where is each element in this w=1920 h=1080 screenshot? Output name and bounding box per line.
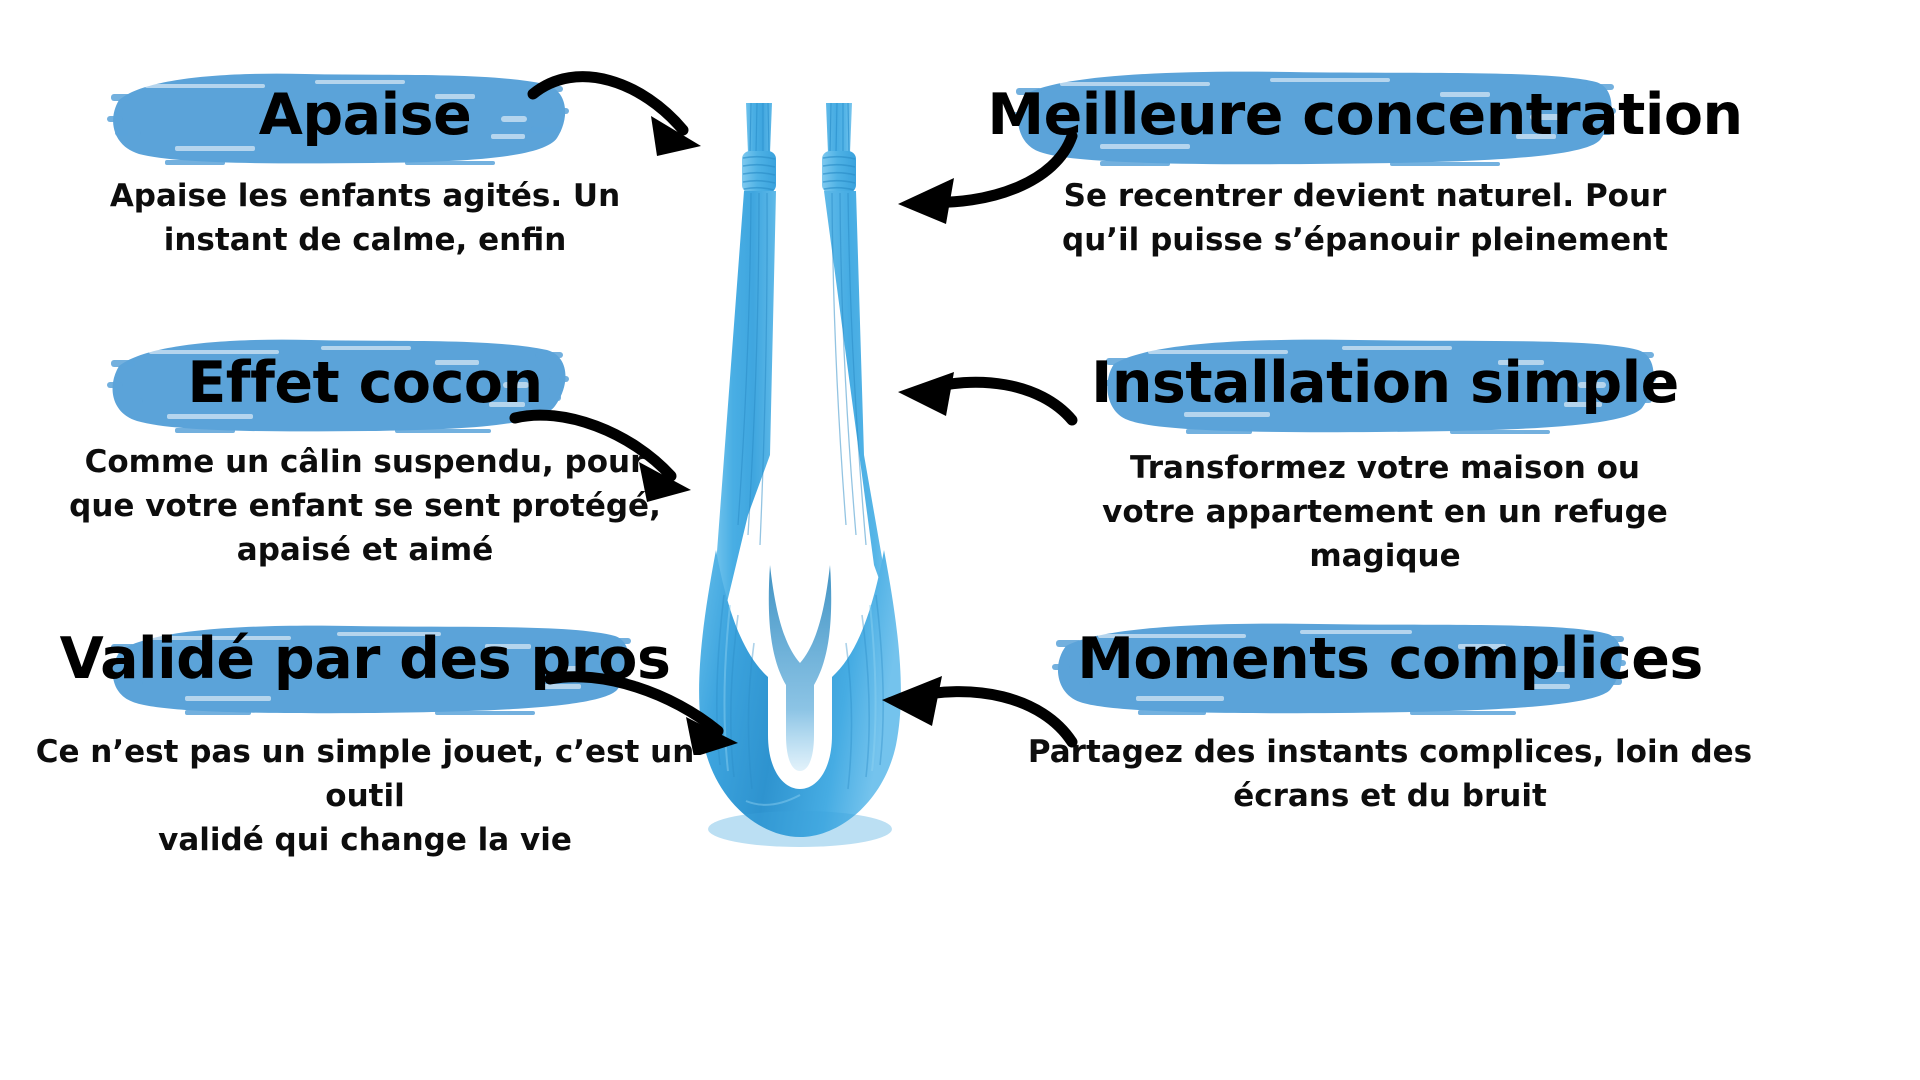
feature-valide-par-des-pros-line-2: validé qui change la vie xyxy=(15,818,715,862)
arrow-curve-right-apaise xyxy=(525,60,735,170)
arrow-curve-left-installation xyxy=(880,360,1080,440)
infographic-canvas: Apaise Apaise les enfants agités. Un ins… xyxy=(0,0,1920,1080)
feature-installation-simple-line-1: Transformez votre maison ou xyxy=(900,446,1870,490)
feature-installation-simple-line-2: votre appartement en un refuge xyxy=(900,490,1870,534)
feature-apaise-line-1: Apaise les enfants agités. Un xyxy=(55,174,675,218)
arrow-curve-left-concentration xyxy=(870,120,1080,230)
feature-apaise-line-2: instant de calme, enfin xyxy=(55,218,675,262)
feature-installation-simple-description: Transformez votre maison ou votre appart… xyxy=(900,446,1870,578)
arrow-curve-right-cocon xyxy=(505,400,725,510)
feature-apaise-description: Apaise les enfants agités. Un instant de… xyxy=(55,174,675,262)
arrow-curve-right-valide xyxy=(540,655,770,755)
feature-installation-simple-line-3: magique xyxy=(900,534,1870,578)
feature-effet-cocon-line-3: apaisé et aimé xyxy=(55,528,675,572)
arrow-curve-left-moments xyxy=(860,660,1080,760)
feature-moments-complices-line-2: écrans et du bruit xyxy=(880,774,1900,818)
